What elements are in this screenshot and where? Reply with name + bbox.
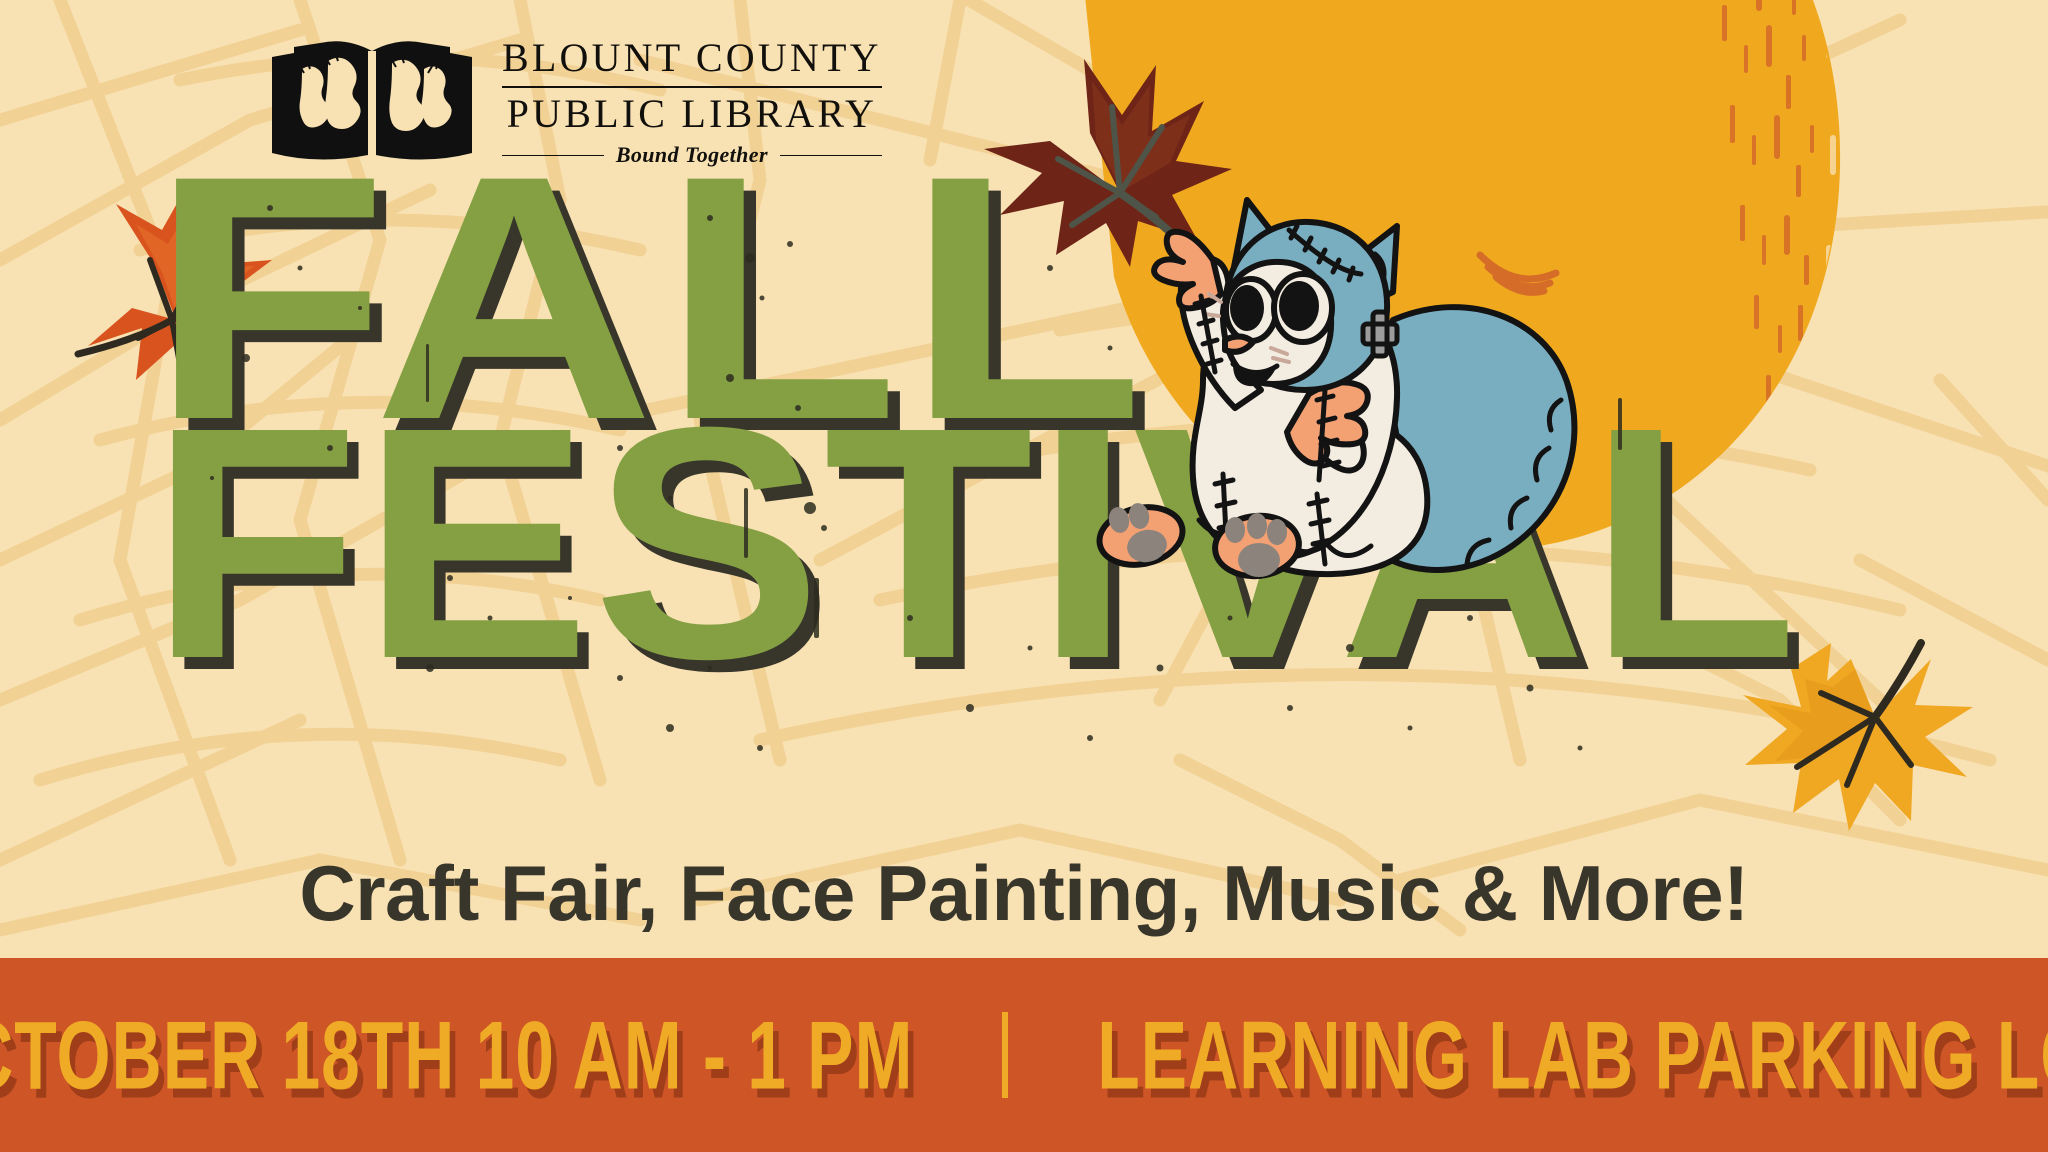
library-logo: BLOUNT COUNTY PUBLIC LIBRARY Bound Toget… [268, 33, 882, 168]
event-details-banner: OCTOBER 18TH 10 AM - 1 PM LEARNING LAB P… [0, 958, 2048, 1152]
title-line-festival: FESTIVAL [150, 401, 1918, 685]
logo-tagline-row: Bound Together [502, 142, 882, 168]
logo-tagline: Bound Together [616, 142, 768, 168]
open-book-with-faces-icon [268, 35, 476, 167]
logo-tagline-rule-left [502, 155, 604, 157]
logo-divider-rule [502, 86, 882, 88]
event-datetime: OCTOBER 18TH 10 AM - 1 PM [0, 1000, 914, 1111]
banner-divider-icon [1002, 1012, 1008, 1098]
logo-line-county: BLOUNT COUNTY [502, 37, 882, 79]
event-title: FALL FESTIVAL [150, 148, 1850, 685]
stitched-squirrel-mascot [1075, 168, 1585, 598]
poster-canvas: BLOUNT COUNTY PUBLIC LIBRARY Bound Toget… [0, 0, 2048, 1152]
logo-wordmark: BLOUNT COUNTY PUBLIC LIBRARY Bound Toget… [502, 33, 882, 168]
event-subtitle: Craft Fair, Face Painting, Music & More! [0, 848, 2048, 939]
logo-tagline-rule-right [780, 155, 882, 157]
event-location: LEARNING LAB PARKING LOT [1097, 1000, 2048, 1111]
logo-line-library: PUBLIC LIBRARY [507, 93, 877, 135]
